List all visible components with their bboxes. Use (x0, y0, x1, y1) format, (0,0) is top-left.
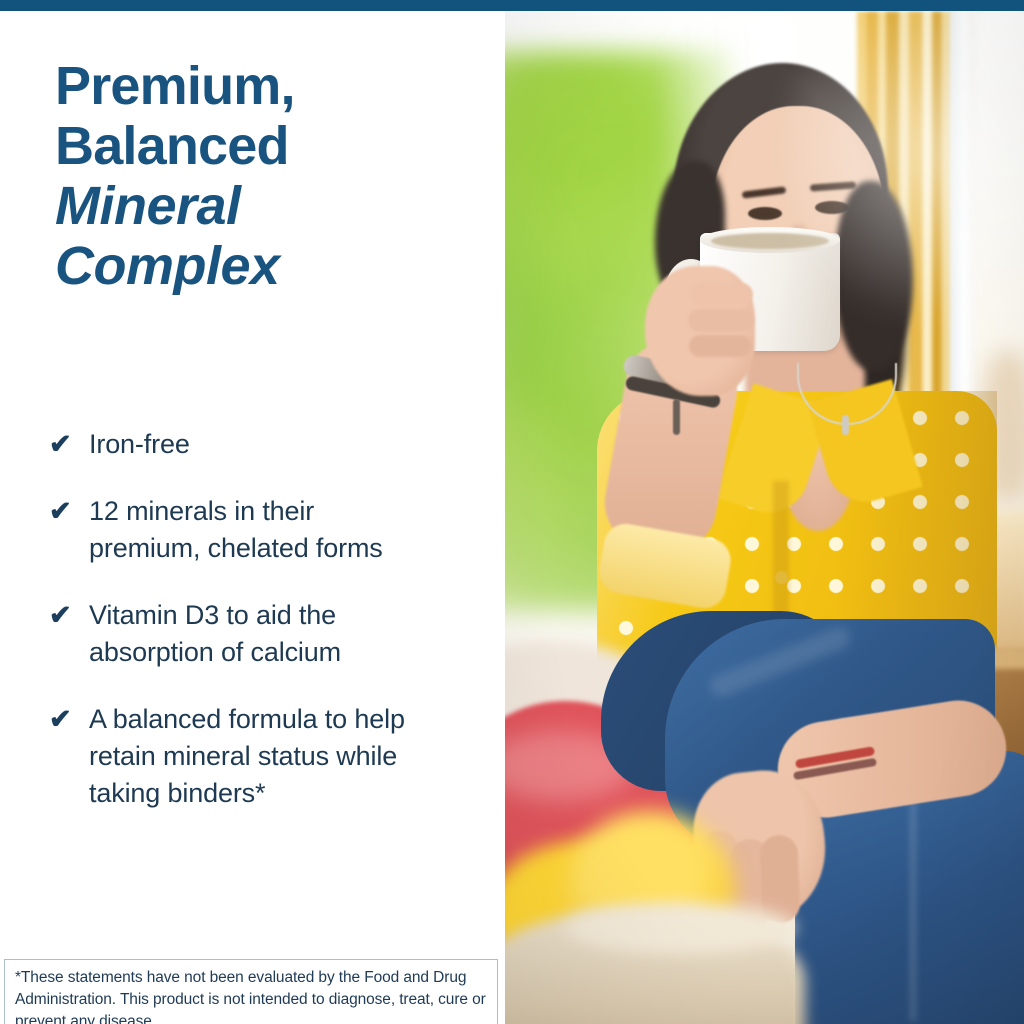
list-item: ✔ Vitamin D3 to aid the absorption of ca… (46, 597, 486, 671)
headline-line-2: Balanced (55, 116, 475, 176)
list-item: ✔ 12 minerals in their premium, chelated… (46, 493, 486, 567)
headline-line-1: Premium, (55, 56, 475, 116)
benefit-text: A balanced formula to help retain minera… (89, 701, 429, 812)
photo-vignette (505, 11, 1024, 1024)
infographic-page: Premium, Balanced Mineral Complex ✔ Iron… (0, 0, 1024, 1024)
headline-line-4: Complex (55, 236, 475, 296)
benefits-list: ✔ Iron-free ✔ 12 minerals in their premi… (46, 426, 486, 812)
benefit-text: Vitamin D3 to aid the absorption of calc… (89, 597, 429, 671)
fda-disclaimer-text: *These statements have not been evaluate… (15, 967, 487, 1024)
benefit-text: Iron-free (89, 426, 429, 463)
checkmark-icon: ✔ (46, 426, 89, 463)
page-title: Premium, Balanced Mineral Complex (55, 56, 475, 296)
fda-disclaimer-box: *These statements have not been evaluate… (4, 959, 498, 1024)
benefit-text: 12 minerals in their premium, chelated f… (89, 493, 429, 567)
list-item: ✔ A balanced formula to help retain mine… (46, 701, 486, 812)
checkmark-icon: ✔ (46, 701, 89, 738)
top-accent-bar (0, 0, 1024, 11)
list-item: ✔ Iron-free (46, 426, 486, 463)
lifestyle-photo (505, 11, 1024, 1024)
checkmark-icon: ✔ (46, 597, 89, 634)
checkmark-icon: ✔ (46, 493, 89, 530)
headline-line-3: Mineral (55, 176, 475, 236)
left-content-column: Premium, Balanced Mineral Complex ✔ Iron… (0, 11, 505, 1024)
